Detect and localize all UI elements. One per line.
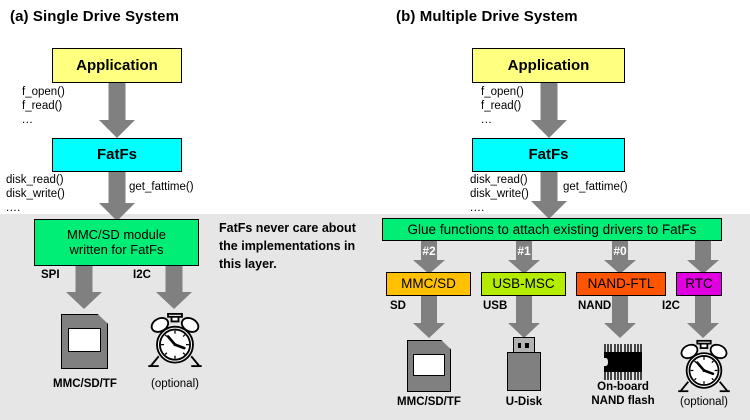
arrow-fatfs-to-module-left <box>99 172 135 221</box>
glue-functions-bar[interactable]: Glue functions to attach existing driver… <box>382 218 722 241</box>
api-label-ellipsis-3: ... <box>481 114 492 126</box>
api-label-f-read-right: f_read() <box>481 100 521 112</box>
arrow-glue-to-rtc <box>687 241 719 274</box>
application-box-left[interactable]: Application <box>52 48 182 83</box>
usb-contact-2 <box>525 343 529 348</box>
device-caption-mmc-sd-tf-right: MMC/SD/TF <box>379 396 479 410</box>
api-label-disk-read-right: disk_read() <box>470 174 528 186</box>
caption-line1: MMC/SD/TF <box>53 378 117 390</box>
sd-card-icon-left <box>61 314 108 369</box>
api-label-ellipsis-1: ... <box>22 114 33 126</box>
driver-box-usb-msc[interactable]: USB-MSC <box>481 272 566 296</box>
usb-flash-drive-icon <box>505 337 543 391</box>
chip-notch <box>604 358 608 365</box>
bus-label-usb: USB <box>483 300 507 312</box>
chip-die <box>604 352 643 372</box>
panel-title-multiple-drive: (b) Multiple Drive System <box>396 8 578 25</box>
drive-index-0: #0 <box>604 244 636 258</box>
api-label-f-open: f_open() <box>22 86 65 98</box>
bus-label-sd: SD <box>390 300 406 312</box>
bus-label-i2c-left: I2C <box>133 269 151 281</box>
sd-card-label-window <box>68 328 102 352</box>
layer-note-text: FatFs never care about the implementatio… <box>219 219 379 273</box>
sd-card-label-window <box>413 354 445 377</box>
caption-line1: (optional) <box>680 396 728 408</box>
note-line2: the implementations in <box>219 237 379 255</box>
api-label-f-read: f_read() <box>22 100 62 112</box>
arrow-i2c-left <box>156 266 192 309</box>
diagram-canvas: (a) Single Drive System Application f_op… <box>0 0 750 420</box>
api-label-get-fattime-left: get_fattime() <box>129 181 194 193</box>
chip-pins-top <box>604 344 643 352</box>
arrow-spi-left <box>66 266 102 309</box>
api-label-disk-write-left: disk_write() <box>6 188 65 200</box>
device-caption-optional-left: (optional) <box>135 378 215 392</box>
drive-index-2: #2 <box>413 244 445 258</box>
panel-title-single-drive: (a) Single Drive System <box>10 8 179 25</box>
nand-flash-chip-icon <box>600 344 646 380</box>
driver-box-mmc-sd[interactable]: MMC/SD <box>386 272 471 296</box>
caption-line1: U-Disk <box>506 396 542 408</box>
caption-line1: On-board <box>573 381 673 395</box>
chip-pins-bottom <box>604 372 643 380</box>
device-caption-nand-flash: On-board NAND flash <box>573 381 673 409</box>
driver-box-nand-ftl[interactable]: NAND-FTL <box>576 272 666 296</box>
arrow-fatfs-to-glue <box>531 172 567 219</box>
api-label-disk-write-right: disk_write() <box>470 188 529 200</box>
arrow-mmc-sd-to-card <box>413 296 445 338</box>
arrow-app-to-fatfs-right <box>531 83 567 138</box>
mmc-sd-module-line2: written for FatFs <box>70 243 164 258</box>
device-caption-optional-right: (optional) <box>664 396 744 410</box>
mmc-sd-module-line1: MMC/SD module <box>67 228 166 243</box>
api-label-ellipsis-2: .... <box>6 202 21 214</box>
arrow-rtc-to-clock <box>687 296 719 338</box>
note-line1: FatFs never care about <box>219 219 379 237</box>
caption-line1: (optional) <box>151 378 199 390</box>
application-box-right[interactable]: Application <box>472 48 625 83</box>
device-caption-mmc-sd-tf-left: MMC/SD/TF <box>35 378 135 392</box>
usb-body <box>507 352 542 391</box>
note-line3: this layer. <box>219 255 379 273</box>
bus-label-i2c-right: I2C <box>662 300 680 312</box>
driver-box-rtc[interactable]: RTC <box>676 272 722 296</box>
alarm-clock-icon-left <box>146 311 204 369</box>
api-label-f-open-right: f_open() <box>481 86 524 98</box>
arrow-app-to-fatfs-left <box>99 83 135 138</box>
arrow-usb-msc-to-udisk <box>508 296 540 338</box>
caption-line2: NAND flash <box>573 395 673 409</box>
api-label-get-fattime-right: get_fattime() <box>563 181 628 193</box>
api-label-disk-read-left: disk_read() <box>6 174 64 186</box>
sd-card-icon-right <box>407 340 451 392</box>
device-caption-u-disk: U-Disk <box>489 396 559 410</box>
usb-contact-1 <box>518 343 522 348</box>
caption-line1: MMC/SD/TF <box>397 396 461 408</box>
api-label-ellipsis-4: .... <box>470 202 485 214</box>
bus-label-spi: SPI <box>41 269 60 281</box>
drive-index-1: #1 <box>508 244 540 258</box>
alarm-clock-icon-right <box>676 338 732 394</box>
fatfs-box-right[interactable]: FatFs <box>472 138 625 172</box>
fatfs-box-left[interactable]: FatFs <box>52 138 182 172</box>
mmc-sd-module-box[interactable]: MMC/SD module written for FatFs <box>34 219 199 266</box>
arrow-nand-ftl-to-flash <box>604 296 636 338</box>
